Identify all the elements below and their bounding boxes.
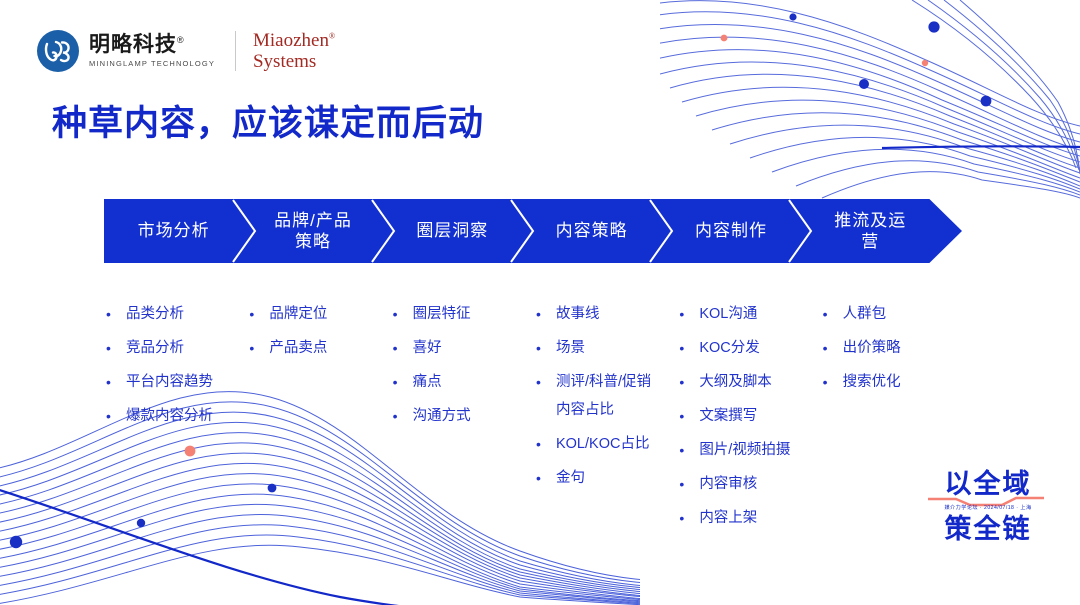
list-item: •搜索优化 bbox=[821, 368, 964, 396]
bullet-dot-icon: • bbox=[677, 470, 699, 498]
list-item: •竞品分析 bbox=[104, 334, 247, 362]
column-circle-insight: •圈层特征 •喜好 •痛点 •沟通方式 bbox=[391, 300, 534, 538]
list-item-label: 故事线 bbox=[556, 300, 600, 328]
list-item: •产品卖点 bbox=[247, 334, 390, 362]
brand-logo-bar: 明略科技® MININGLAMP TECHNOLOGY Miaozhen® Sy… bbox=[36, 26, 335, 76]
list-item-label: 圈层特征 bbox=[413, 300, 471, 328]
bullet-dot-icon: • bbox=[104, 334, 126, 362]
column-brand-product-strategy: •品牌定位 •产品卖点 bbox=[247, 300, 390, 538]
process-step-market-analysis[interactable]: 市场分析 bbox=[104, 199, 243, 263]
list-item: •金句 bbox=[534, 464, 677, 492]
list-item: •内容审核 bbox=[677, 470, 820, 498]
bullet-dot-icon: • bbox=[391, 368, 413, 396]
list-item-label: 平台内容趋势 bbox=[126, 368, 213, 396]
bullet-dot-icon: • bbox=[821, 300, 843, 328]
list-item-label: 品类分析 bbox=[126, 300, 184, 328]
event-logo: 以全域 媒介力学论坛 · 2024/07/18 · 上海 策全链 bbox=[918, 470, 1058, 580]
list-item-label: 出价策略 bbox=[843, 334, 901, 362]
list-item-label: 文案撰写 bbox=[699, 402, 757, 430]
decorative-contour-lines-top-right bbox=[660, 0, 1080, 200]
list-item-label: 竞品分析 bbox=[126, 334, 184, 362]
list-item: •爆款内容分析 bbox=[104, 402, 247, 430]
bullet-dot-icon: • bbox=[534, 368, 556, 396]
miaozhen-name-line1: Miaozhen® bbox=[253, 31, 335, 50]
list-item-label: 内容上架 bbox=[699, 504, 757, 532]
list-item: •内容上架 bbox=[677, 504, 820, 532]
mininglamp-logo: 明略科技® MININGLAMP TECHNOLOGY bbox=[36, 29, 215, 73]
list-item-label: 痛点 bbox=[413, 368, 442, 396]
bullet-dot-icon: • bbox=[677, 436, 699, 464]
registered-mark: ® bbox=[329, 32, 335, 41]
logo-divider bbox=[235, 31, 236, 71]
list-item: •出价策略 bbox=[821, 334, 964, 362]
list-item-label: 沟通方式 bbox=[413, 402, 471, 430]
list-item: •图片/视频拍摄 bbox=[677, 436, 820, 464]
process-step-circle-insight[interactable]: 圈层洞察 bbox=[383, 199, 522, 263]
list-item: •KOC分发 bbox=[677, 334, 820, 362]
list-item-label: 人群包 bbox=[843, 300, 887, 328]
column-content-strategy: •故事线 •场景 •测评/科普/促销 内容占比 •KOL/KOC占比 •金句 bbox=[534, 300, 677, 538]
process-step-brand-product-strategy[interactable]: 品牌/产品 策略 bbox=[243, 199, 382, 263]
bullet-dot-icon: • bbox=[391, 402, 413, 430]
page-title: 种草内容，应该谋定而后动 bbox=[52, 95, 484, 146]
mininglamp-en-name: MININGLAMP TECHNOLOGY bbox=[89, 59, 215, 68]
mininglamp-cn-text: 明略科技 bbox=[89, 33, 177, 56]
bullet-dot-icon: • bbox=[677, 300, 699, 328]
event-logo-date: 媒介力学论坛 · 2024/07/18 · 上海 bbox=[922, 504, 1055, 512]
list-item: •痛点 bbox=[391, 368, 534, 396]
mininglamp-cn-name: 明略科技® bbox=[89, 34, 215, 56]
list-item: •品类分析 bbox=[104, 300, 247, 328]
miaozhen-logo: Miaozhen® Systems bbox=[253, 31, 335, 71]
event-logo-line-3: 策全链 bbox=[918, 515, 1058, 543]
process-step-list: 市场分析 品牌/产品 策略 圈层洞察 内容策略 内容制作 推流及运 营 bbox=[104, 199, 962, 263]
list-item-label: KOC分发 bbox=[699, 334, 759, 362]
process-step-content-strategy[interactable]: 内容策略 bbox=[522, 199, 661, 263]
bullet-dot-icon: • bbox=[104, 368, 126, 396]
mininglamp-wordmark: 明略科技® MININGLAMP TECHNOLOGY bbox=[89, 34, 215, 67]
list-item-label: KOL/KOC占比 bbox=[556, 430, 649, 458]
list-item-label: 喜好 bbox=[413, 334, 442, 362]
list-item-label: 图片/视频拍摄 bbox=[699, 436, 790, 464]
column-content-production: •KOL沟通 •KOC分发 •大纲及脚本 •文案撰写 •图片/视频拍摄 •内容审… bbox=[677, 300, 820, 538]
bullet-dot-icon: • bbox=[677, 334, 699, 362]
detail-columns: •品类分析 •竞品分析 •平台内容趋势 •爆款内容分析 •品牌定位 •产品卖点 … bbox=[104, 300, 964, 538]
list-item: •品牌定位 bbox=[247, 300, 390, 328]
list-item-label: 品牌定位 bbox=[269, 300, 327, 328]
list-item-label: 爆款内容分析 bbox=[126, 402, 213, 430]
bullet-dot-icon: • bbox=[247, 300, 269, 328]
bullet-dot-icon: • bbox=[391, 300, 413, 328]
list-item-label: 场景 bbox=[556, 334, 585, 362]
process-step-content-production[interactable]: 内容制作 bbox=[661, 199, 800, 263]
bullet-dot-icon: • bbox=[534, 464, 556, 492]
list-item: •场景 bbox=[534, 334, 677, 362]
list-item: •圈层特征 bbox=[391, 300, 534, 328]
list-item-label: 搜索优化 bbox=[843, 368, 901, 396]
bullet-dot-icon: • bbox=[391, 334, 413, 362]
bullet-dot-icon: • bbox=[104, 300, 126, 328]
list-item: •人群包 bbox=[821, 300, 964, 328]
bullet-dot-icon: • bbox=[821, 334, 843, 362]
list-item-label: 测评/科普/促销 内容占比 bbox=[556, 368, 651, 424]
process-step-distribution-operation[interactable]: 推流及运 营 bbox=[801, 199, 962, 263]
list-item: •测评/科普/促销 内容占比 bbox=[534, 368, 677, 424]
bullet-dot-icon: • bbox=[534, 334, 556, 362]
mininglamp-circle-mark-icon bbox=[36, 29, 80, 73]
list-item: •文案撰写 bbox=[677, 402, 820, 430]
bullet-dot-icon: • bbox=[677, 504, 699, 532]
list-item-label: 内容审核 bbox=[699, 470, 757, 498]
process-chevron-bar: 市场分析 品牌/产品 策略 圈层洞察 内容策略 内容制作 推流及运 营 bbox=[104, 199, 962, 263]
list-item: •喜好 bbox=[391, 334, 534, 362]
miaozhen-name-line2: Systems bbox=[253, 52, 335, 71]
bullet-dot-icon: • bbox=[104, 402, 126, 430]
event-logo-line-1: 以全域 bbox=[918, 470, 1058, 498]
list-item-label: KOL沟通 bbox=[699, 300, 757, 328]
bullet-dot-icon: • bbox=[534, 300, 556, 328]
bullet-dot-icon: • bbox=[534, 430, 556, 458]
registered-mark: ® bbox=[177, 35, 185, 45]
miaozhen-name-text: Miaozhen bbox=[253, 30, 329, 51]
event-logo-line-1-text: 以全域 bbox=[945, 469, 1032, 499]
column-market-analysis: •品类分析 •竞品分析 •平台内容趋势 •爆款内容分析 bbox=[104, 300, 247, 538]
list-item-label: 产品卖点 bbox=[269, 334, 327, 362]
list-item-label: 大纲及脚本 bbox=[699, 368, 772, 396]
list-item: •沟通方式 bbox=[391, 402, 534, 430]
bullet-dot-icon: • bbox=[821, 368, 843, 396]
bullet-dot-icon: • bbox=[677, 368, 699, 396]
list-item: •平台内容趋势 bbox=[104, 368, 247, 396]
list-item-label: 金句 bbox=[556, 464, 585, 492]
slide-canvas: 明略科技® MININGLAMP TECHNOLOGY Miaozhen® Sy… bbox=[0, 0, 1080, 605]
list-item: •故事线 bbox=[534, 300, 677, 328]
list-item: •大纲及脚本 bbox=[677, 368, 820, 396]
list-item: •KOL沟通 bbox=[677, 300, 820, 328]
bullet-dot-icon: • bbox=[247, 334, 269, 362]
list-item: •KOL/KOC占比 bbox=[534, 430, 677, 458]
bullet-dot-icon: • bbox=[677, 402, 699, 430]
